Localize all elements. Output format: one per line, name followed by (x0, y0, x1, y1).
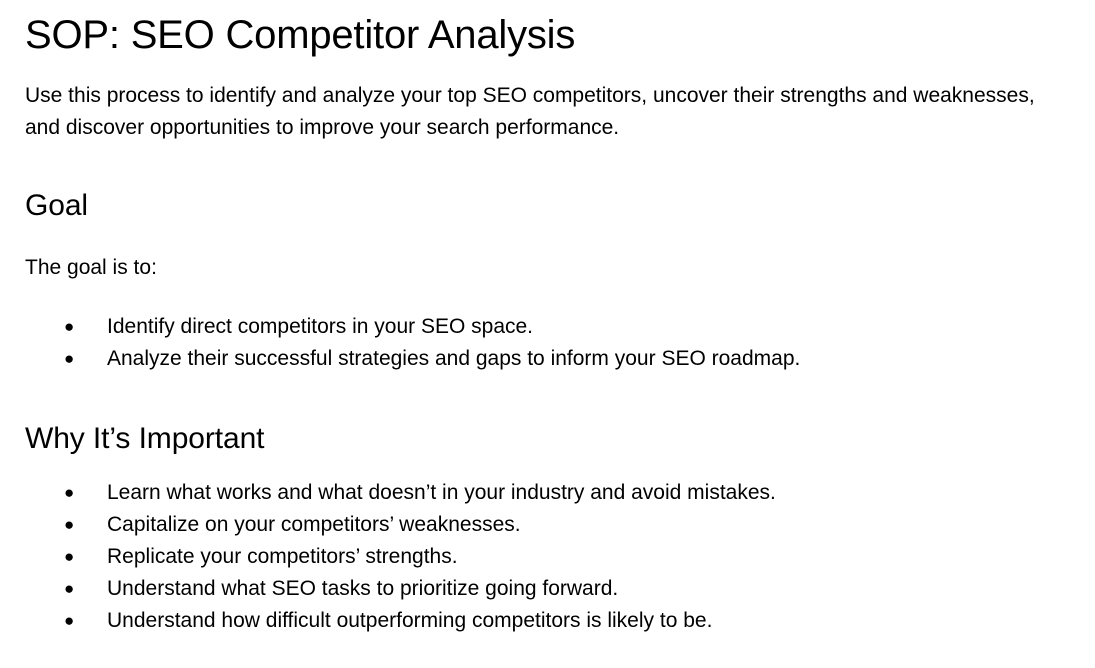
intro-paragraph: Use this process to identify and analyze… (25, 58, 1065, 144)
list-item-label: Learn what works and what doesn’t in you… (107, 481, 776, 504)
page-title: SOP: SEO Competitor Analysis (25, 0, 1065, 58)
bullet-icon: ● (64, 477, 74, 509)
goal-bullet-list: ● Identify direct competitors in your SE… (25, 284, 1065, 375)
list-item: ● Learn what works and what doesn’t in y… (25, 477, 1065, 509)
list-item-label: Understand what SEO tasks to prioritize … (107, 577, 618, 600)
list-item-label: Identify direct competitors in your SEO … (107, 315, 533, 338)
section-heading-goal: Goal (25, 144, 1065, 224)
goal-lead-text: The goal is to: (25, 224, 1065, 284)
list-item: ● Capitalize on your competitors’ weakne… (25, 509, 1065, 541)
list-item-label: Replicate your competitors’ strengths. (107, 545, 458, 568)
list-item-label: Understand how difficult outperforming c… (107, 609, 712, 632)
bullet-icon: ● (64, 605, 74, 637)
bullet-icon: ● (64, 509, 74, 541)
list-item: ● Understand how difficult outperforming… (25, 605, 1065, 637)
bullet-icon: ● (64, 343, 74, 375)
list-item: ● Identify direct competitors in your SE… (25, 311, 1065, 343)
bullet-icon: ● (64, 311, 74, 343)
list-item: ● Replicate your competitors’ strengths. (25, 541, 1065, 573)
bullet-icon: ● (64, 573, 74, 605)
section-heading-why-its-important: Why It’s Important (25, 375, 1065, 457)
document-body: SOP: SEO Competitor Analysis Use this pr… (0, 0, 1095, 668)
list-item-label: Analyze their successful strategies and … (107, 347, 800, 370)
list-item-label: Capitalize on your competitors’ weakness… (107, 513, 521, 536)
why-bullet-list: ● Learn what works and what doesn’t in y… (25, 457, 1065, 637)
list-item: ● Analyze their successful strategies an… (25, 343, 1065, 375)
bullet-icon: ● (64, 541, 74, 573)
list-item: ● Understand what SEO tasks to prioritiz… (25, 573, 1065, 605)
